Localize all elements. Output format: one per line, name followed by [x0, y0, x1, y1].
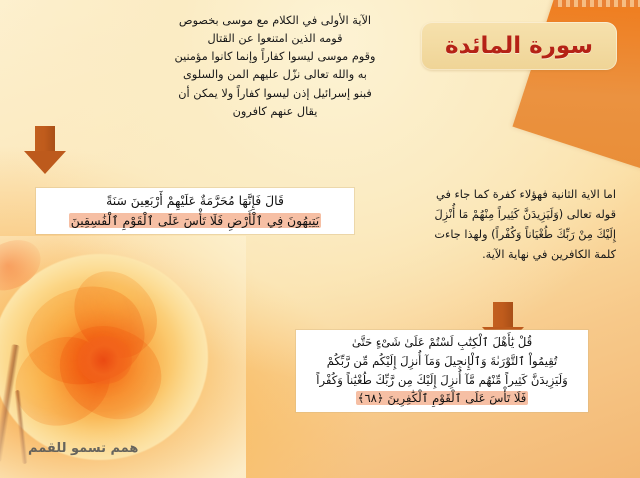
verse-text: قَالَ فَإِنَّهَا مُحَرَّمَةٌ عَلَيْهِمْ … — [106, 193, 284, 208]
verse-text: تُقِيمُواْ ٱلتَّوْرَىٰةَ وَٱلْإِنجِيلَ و… — [327, 354, 558, 368]
rose-petal — [57, 255, 174, 373]
first-verse-commentary: الآية الأولى في الكلام مع موسى بخصوص قوم… — [150, 12, 400, 121]
verse-text: قُلْ يَٰأَهْلَ ٱلْكِتَٰبِ لَسْتُمْ عَلَى… — [352, 335, 532, 349]
commentary-line: وقوم موسى ليسوا كفاراً وإنما كانوا مؤمني… — [150, 48, 400, 65]
commentary-line: اما الاية الثانية فهؤلاء كفرة كما جاء في — [358, 186, 616, 205]
rose-stem — [0, 344, 20, 462]
rose-center — [78, 336, 132, 384]
quran-verse-card: قَالَ فَإِنَّهَا مُحَرَّمَةٌ عَلَيْهِمْ … — [36, 188, 354, 234]
highlighted-verse-text: فَلَا تَأْسَ عَلَى ٱلْقَوْمِ ٱلْكَٰفِرِي… — [356, 391, 529, 405]
commentary-line: به والله تعالى نزّل عليهم المن والسلوى — [150, 66, 400, 83]
commentary-line: كلمة الكافرين في نهاية الآية. — [358, 246, 616, 265]
arrow-shaft — [35, 126, 55, 152]
rose-stem — [14, 390, 28, 464]
rose-bloom — [0, 254, 208, 460]
commentary-line: إِلَيْكَ مِنْ رَبِّكَ طُغْيَاناً وَكُفْر… — [358, 226, 616, 245]
arrow-shaft — [493, 302, 513, 328]
quran-verse-card: قُلْ يَٰأَهْلَ ٱلْكِتَٰبِ لَسْتُمْ عَلَى… — [296, 330, 588, 412]
rose-petal — [15, 274, 155, 399]
down-arrow-icon — [24, 126, 66, 174]
commentary-line: الآية الأولى في الكلام مع موسى بخصوص — [150, 12, 400, 29]
commentary-line: فبنو إسرائيل إذن ليسوا كفاراً ولا يمكن أ… — [150, 85, 400, 102]
highlighted-verse-text: يَتِيهُونَ فِي ٱلْأَرْضِ فَلَا تَأْسَ عَ… — [69, 213, 321, 228]
rose-petal — [0, 319, 126, 444]
arrow-head — [24, 151, 66, 174]
rose-bud — [0, 236, 48, 298]
page-title: سورة المائدة — [445, 33, 593, 59]
verse-text: وَلَيَزِيدَنَّ كَثِيراً مِّنْهُم مَّآ أُ… — [316, 373, 568, 387]
verse-line: قُلْ يَٰأَهْلَ ٱلْكِتَٰبِ لَسْتُمْ عَلَى… — [300, 333, 584, 352]
verse-line: فَلَا تَأْسَ عَلَى ٱلْقَوْمِ ٱلْكَٰفِرِي… — [300, 389, 584, 408]
bead-strip-decoration — [554, 0, 640, 7]
commentary-line: قومه الذين امتنعوا عن القتال — [150, 30, 400, 47]
commentary-line: يقال عنهم كافرون — [150, 103, 400, 120]
watermark-credit: همم تسمو للقمم — [28, 441, 138, 456]
title-plate: سورة المائدة — [421, 22, 617, 70]
verse-line: وَلَيَزِيدَنَّ كَثِيراً مِّنْهُم مَّآ أُ… — [300, 371, 584, 390]
commentary-line: قوله تعالى (وَلَيَزِيدَنَّ كَثِيراً مِنْ… — [358, 206, 616, 225]
verse-line: يَتِيهُونَ فِي ٱلْأَرْضِ فَلَا تَأْسَ عَ… — [40, 211, 350, 231]
verse-line: قَالَ فَإِنَّهَا مُحَرَّمَةٌ عَلَيْهِمْ … — [40, 191, 350, 211]
second-verse-commentary: اما الاية الثانية فهؤلاء كفرة كما جاء في… — [358, 186, 616, 266]
verse-line: تُقِيمُواْ ٱلتَّوْرَىٰةَ وَٱلْإِنجِيلَ و… — [300, 352, 584, 371]
presentation-slide: سورة المائدة الآية الأولى في الكلام مع م… — [0, 0, 640, 478]
rose-petal — [45, 311, 176, 434]
